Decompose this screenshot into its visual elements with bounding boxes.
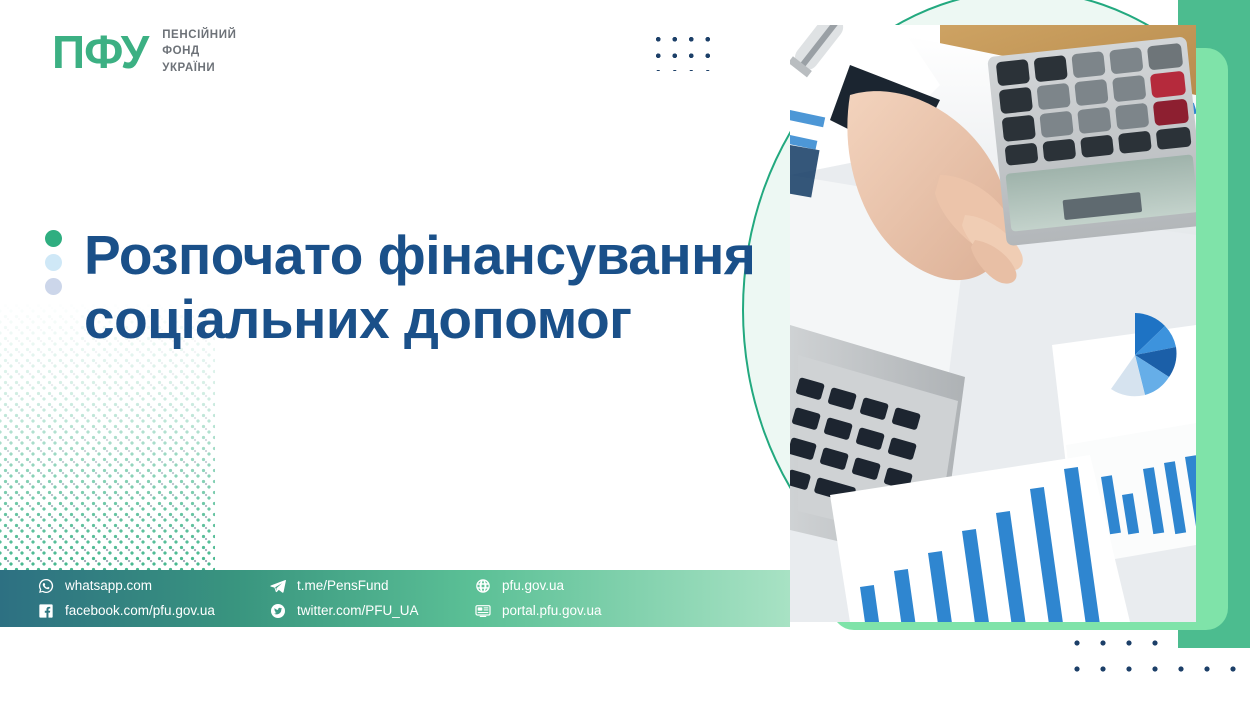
footer-link-portal[interactable]: portal.pfu.gov.ua: [475, 603, 602, 619]
accent-dot-green: [45, 230, 62, 247]
telegram-icon: [270, 578, 286, 594]
contact-footer: whatsapp.com facebook.com/pfu.gov.ua t.m…: [0, 570, 790, 627]
footer-column-1: whatsapp.com facebook.com/pfu.gov.ua: [38, 578, 270, 619]
dot-grid-top: [650, 31, 716, 71]
footer-column-2: t.me/PensFund twitter.com/PFU_UA: [270, 578, 475, 619]
logo-line-1: Пенсійний: [162, 28, 236, 42]
page-title: Розпочато фінансування соціальних допомо…: [84, 224, 755, 352]
hero-photo: [790, 25, 1196, 622]
logo-wordmark: Пенсійний Фонд України: [162, 28, 236, 75]
whatsapp-label: whatsapp.com: [65, 579, 152, 593]
twitter-icon: [270, 603, 286, 619]
headline-line-1: Розпочато фінансування: [84, 224, 755, 286]
footer-link-twitter[interactable]: twitter.com/PFU_UA: [270, 603, 475, 619]
headline-line-2: соціальних допомог: [84, 288, 755, 352]
telegram-label: t.me/PensFund: [297, 579, 389, 593]
facebook-label: facebook.com/pfu.gov.ua: [65, 604, 215, 618]
headline-block: Розпочато фінансування соціальних допомо…: [45, 224, 755, 352]
footer-link-website[interactable]: pfu.gov.ua: [475, 578, 602, 594]
footer-column-3: pfu.gov.ua portal.pfu.gov.ua: [475, 578, 602, 619]
logo-line-2: Фонд: [162, 44, 236, 58]
footer-link-telegram[interactable]: t.me/PensFund: [270, 578, 475, 594]
portal-icon: [475, 603, 491, 619]
accent-dot-lavender: [45, 278, 62, 295]
twitter-label: twitter.com/PFU_UA: [297, 604, 419, 618]
facebook-icon: [38, 603, 54, 619]
accent-dots: [45, 224, 62, 352]
poster-canvas: ПФУ Пенсійний Фонд України Розпочато фін…: [0, 0, 1250, 703]
pfu-logo[interactable]: ПФУ Пенсійний Фонд України: [52, 28, 236, 75]
whatsapp-icon: [38, 578, 54, 594]
logo-mark-pfu: ПФУ: [52, 29, 148, 75]
footer-link-facebook[interactable]: facebook.com/pfu.gov.ua: [38, 603, 270, 619]
accent-dot-blue: [45, 254, 62, 271]
portal-label: portal.pfu.gov.ua: [502, 604, 602, 618]
footer-link-whatsapp[interactable]: whatsapp.com: [38, 578, 270, 594]
globe-icon: [475, 578, 491, 594]
logo-line-3: України: [162, 61, 236, 75]
website-label: pfu.gov.ua: [502, 579, 564, 593]
